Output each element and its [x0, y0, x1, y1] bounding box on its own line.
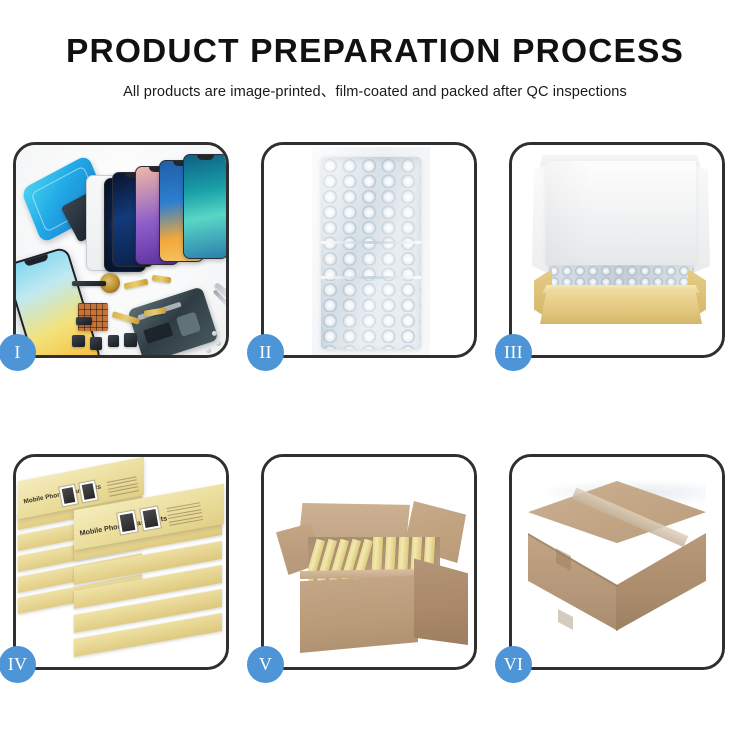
box-artwork-phone-icon	[139, 506, 162, 532]
bubble-wrap-icon	[321, 157, 421, 349]
step-badge-5: V	[247, 646, 284, 683]
screw-icon	[222, 349, 226, 354]
page-subtitle: All products are image-printed、film-coat…	[0, 80, 750, 101]
antenna-strip-icon	[72, 281, 106, 286]
component-icon	[124, 333, 137, 347]
box-artwork-phone-icon	[116, 510, 139, 536]
foam-padding-icon	[546, 161, 696, 265]
component-icon	[72, 335, 85, 347]
step-badge-6: VI	[495, 646, 532, 683]
process-step-panel-5: V	[261, 454, 477, 670]
step-2-illustration	[264, 145, 474, 355]
step-badge-3: III	[495, 334, 532, 371]
screw-icon	[216, 341, 221, 346]
step-4-illustration: Mobile Phone Spare Parts Mobile Phone Sp…	[16, 457, 226, 667]
process-step-panel-6: VI	[509, 454, 725, 670]
step-5-illustration	[264, 457, 474, 667]
carton-flap-tab	[558, 609, 573, 630]
kraft-box-front	[540, 291, 702, 324]
phone-screen-teal-icon	[183, 154, 226, 259]
carton-front-face	[300, 575, 418, 653]
page-title: PRODUCT PREPARATION PROCESS	[0, 34, 750, 69]
component-icon	[108, 335, 119, 347]
screw-icon	[206, 348, 211, 353]
step-badge-2: II	[247, 334, 284, 371]
process-step-panel-2: II	[261, 142, 477, 358]
component-icon	[76, 317, 92, 325]
step-badge-4: IV	[0, 646, 36, 683]
page-header: PRODUCT PREPARATION PROCESS All products…	[0, 0, 750, 101]
process-step-panel-4: Mobile Phone Spare Parts Mobile Phone Sp…	[13, 454, 229, 670]
step-6-illustration	[512, 457, 722, 667]
wrap-seam	[321, 241, 421, 244]
retail-box-stack: Mobile Phone Spare Parts Mobile Phone Sp…	[16, 457, 226, 667]
step-3-illustration	[512, 145, 722, 355]
process-step-panel-1: I	[13, 142, 229, 358]
component-icon	[90, 337, 102, 350]
screw-icon	[212, 331, 217, 336]
step-badge-1: I	[0, 334, 36, 371]
process-steps-grid: I II III	[13, 142, 737, 670]
step-1-illustration	[16, 145, 226, 355]
process-step-panel-3: III	[509, 142, 725, 358]
wrap-seam	[321, 276, 421, 279]
carton-side-face	[414, 553, 468, 645]
